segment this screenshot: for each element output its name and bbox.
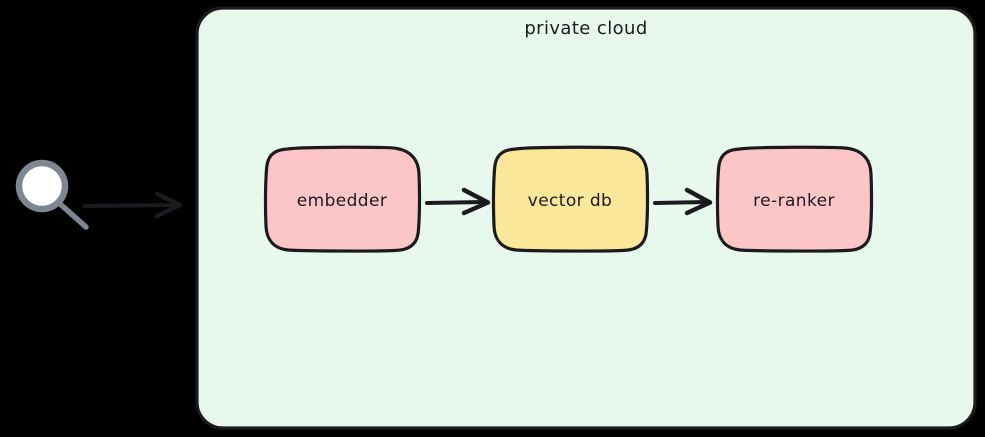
node-vector-db[interactable]: vector db	[493, 147, 647, 251]
node-re-ranker-label: re-ranker	[753, 191, 835, 211]
magnifier-handle	[59, 203, 86, 227]
node-vector-db-label: vector db	[528, 191, 613, 211]
search-icon[interactable]	[19, 163, 86, 227]
edge-query-to-private-cloud[interactable]	[85, 194, 180, 216]
node-re-ranker[interactable]: re-ranker	[717, 147, 871, 251]
edge-1-shaft	[427, 202, 485, 203]
diagram-canvas: private cloud embedder vector db	[0, 0, 985, 437]
edge-2-shaft	[655, 202, 707, 203]
magnifier-ring	[19, 163, 65, 209]
diagram-svg: private cloud embedder vector db	[0, 0, 985, 437]
entry-arrow-shaft	[85, 205, 178, 206]
node-embedder-label: embedder	[297, 191, 388, 211]
group-private-cloud-label: private cloud	[524, 18, 647, 39]
node-embedder[interactable]: embedder	[265, 147, 419, 251]
